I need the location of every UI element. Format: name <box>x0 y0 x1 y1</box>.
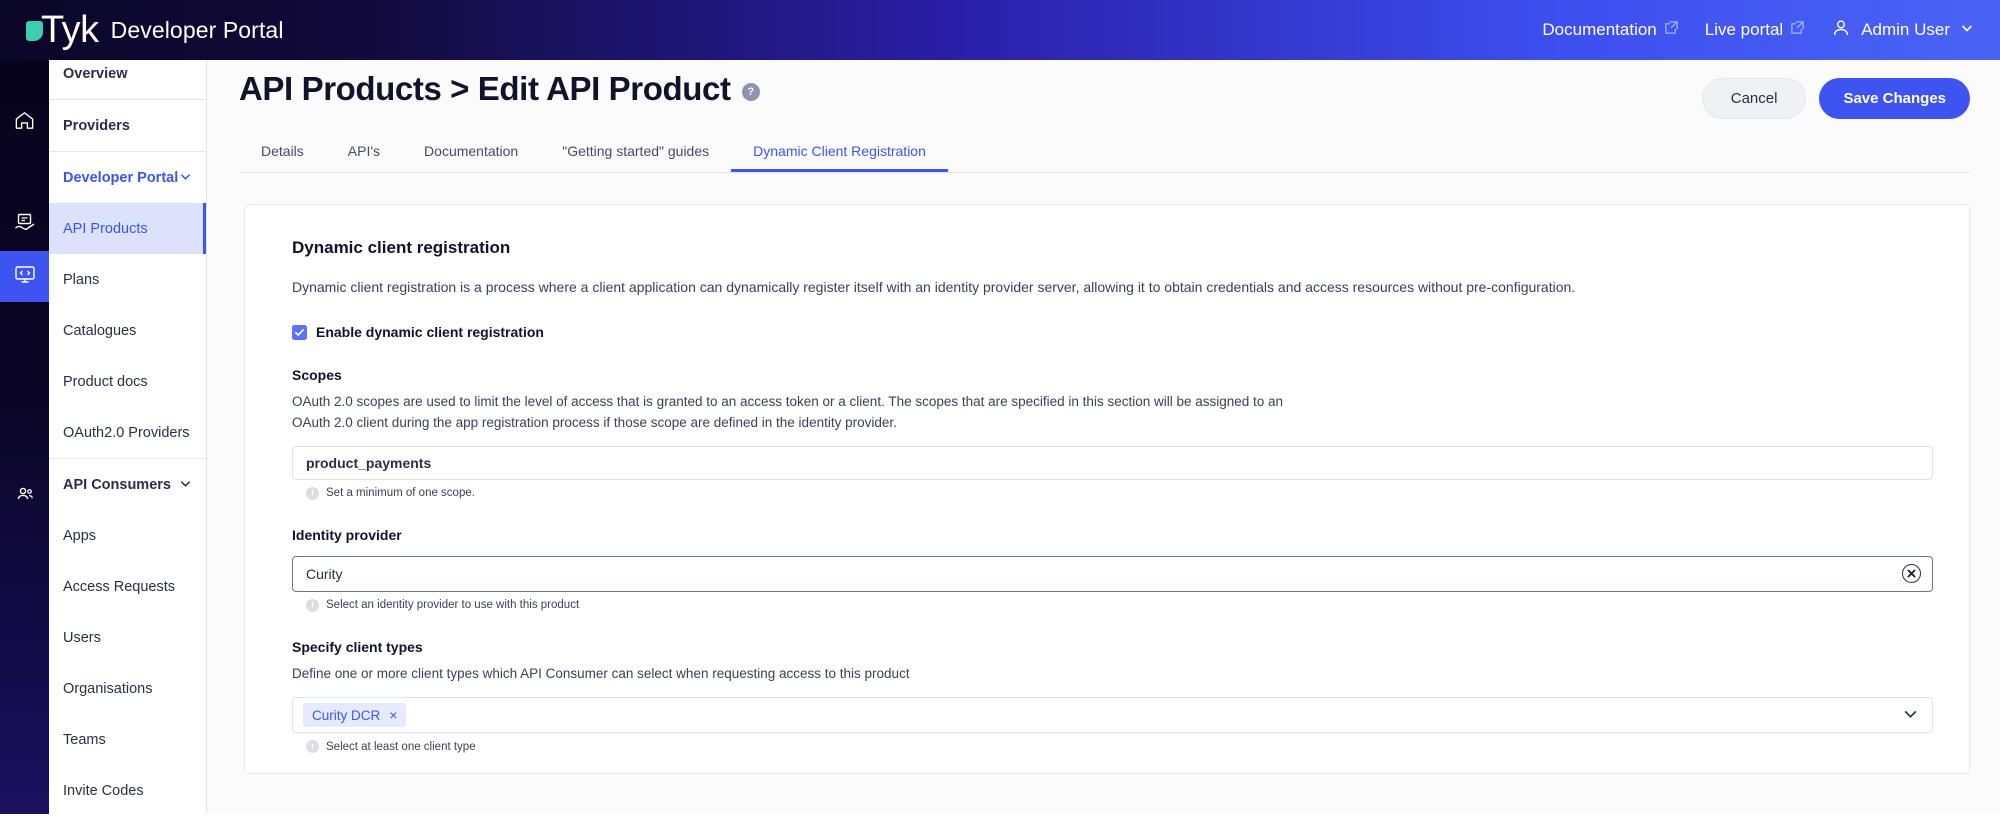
rail-item-providers[interactable] <box>0 200 49 251</box>
chevron-down-icon[interactable] <box>179 170 192 186</box>
sidebar-item-label: API Products <box>63 221 148 237</box>
top-bar: Tyk Developer Portal Documentation Live … <box>0 0 2000 60</box>
info-icon: ! <box>306 487 319 500</box>
save-changes-button[interactable]: Save Changes <box>1819 78 1970 119</box>
section-description: Dynamic client registration is a process… <box>292 277 1931 297</box>
documentation-label: Documentation <box>1542 20 1656 40</box>
sidebar-item-teams[interactable]: Teams <box>49 714 206 765</box>
sidebar-item-api-products[interactable]: API Products <box>49 203 206 254</box>
info-icon: ! <box>306 740 319 753</box>
chevron-down-icon[interactable] <box>1902 705 1919 725</box>
client-type-chip[interactable]: Curity DCR × <box>303 703 406 727</box>
scopes-input[interactable]: product_payments <box>292 446 1933 480</box>
sidebar-item-providers[interactable]: Providers <box>49 100 206 151</box>
tab-getting-started-guides[interactable]: "Getting started" guides <box>540 135 731 172</box>
sidebar-item-label: Access Requests <box>63 579 175 595</box>
sidebar-item-label: Teams <box>63 732 106 748</box>
client-types-hint: ! Select at least one client type <box>292 740 1931 753</box>
scopes-input-value: product_payments <box>306 455 431 471</box>
documentation-link[interactable]: Documentation <box>1542 20 1678 40</box>
enable-dcr-checkbox[interactable] <box>292 325 307 340</box>
info-icon: ! <box>306 599 319 612</box>
icon-rail <box>0 48 49 814</box>
client-types-select[interactable]: Curity DCR × <box>292 697 1933 733</box>
sidebar-item-plans[interactable]: Plans <box>49 254 206 305</box>
tab-documentation[interactable]: Documentation <box>402 135 540 172</box>
sidebar-item-label: Developer Portal <box>63 170 178 186</box>
scopes-description: OAuth 2.0 scopes are used to limit the l… <box>292 392 1292 433</box>
sidebar-item-oauth2-providers[interactable]: OAuth2.0 Providers <box>49 407 206 458</box>
top-bar-actions: Documentation Live portal Admin User <box>1542 18 1974 43</box>
sidebar-item-label: Users <box>63 630 101 646</box>
sidebar-item-label: Apps <box>63 528 96 544</box>
sidebar-item-label: OAuth2.0 Providers <box>63 425 190 441</box>
sidebar-item-organisations[interactable]: Organisations <box>49 663 206 714</box>
scopes-label: Scopes <box>292 367 1931 383</box>
tab-details[interactable]: Details <box>239 135 326 172</box>
tyk-logo-word: Tyk <box>41 11 99 49</box>
rail-item-developer-portal[interactable] <box>0 251 49 302</box>
cancel-button[interactable]: Cancel <box>1702 78 1807 119</box>
enable-dcr-row[interactable]: Enable dynamic client registration <box>292 324 1931 340</box>
external-link-icon <box>1790 20 1805 40</box>
developer-portal-icon <box>13 262 37 291</box>
enable-dcr-label: Enable dynamic client registration <box>316 324 544 340</box>
user-menu[interactable]: Admin User <box>1831 18 1974 43</box>
sidebar-item-api-consumers[interactable]: API Consumers <box>49 459 206 510</box>
live-portal-link[interactable]: Live portal <box>1705 20 1805 40</box>
section-title: Dynamic client registration <box>292 238 1931 258</box>
clear-circle-icon[interactable] <box>1902 564 1921 583</box>
main-content: API Products > Edit API Product ? Cancel… <box>207 48 2000 814</box>
sidebar-item-users[interactable]: Users <box>49 612 206 663</box>
home-icon <box>13 109 36 137</box>
tyk-logo: Tyk <box>26 11 99 49</box>
help-icon[interactable]: ? <box>742 83 760 101</box>
identity-provider-hint: ! Select an identity provider to use wit… <box>292 599 1931 612</box>
user-avatar-icon <box>1831 18 1851 43</box>
dynamic-client-registration-card: Dynamic client registration Dynamic clie… <box>244 204 1970 774</box>
sidebar-item-label: Invite Codes <box>63 783 144 799</box>
rail-item-home[interactable] <box>0 97 49 148</box>
brand[interactable]: Tyk Developer Portal <box>26 11 284 49</box>
tab-apis[interactable]: API's <box>326 135 402 172</box>
sidebar-item-label: Organisations <box>63 681 152 697</box>
scopes-hint-text: Set a minimum of one scope. <box>326 487 475 499</box>
scopes-hint: ! Set a minimum of one scope. <box>292 487 1931 500</box>
api-consumers-icon <box>13 483 37 512</box>
identity-provider-value: Curity <box>306 566 343 582</box>
rail-item-api-consumers[interactable] <box>0 472 49 523</box>
identity-provider-input[interactable]: Curity <box>292 556 1933 592</box>
sidebar-item-invite-codes[interactable]: Invite Codes <box>49 765 206 816</box>
sidebar-item-developer-portal[interactable]: Developer Portal <box>49 152 206 203</box>
remove-chip-icon[interactable]: × <box>389 707 397 723</box>
sidebar-item-label: Overview <box>63 66 128 82</box>
sidebar-item-access-requests[interactable]: Access Requests <box>49 561 206 612</box>
sidebar-item-label: Providers <box>63 118 130 134</box>
sidebar-item-apps[interactable]: Apps <box>49 510 206 561</box>
providers-icon <box>13 211 37 240</box>
client-type-chip-label: Curity DCR <box>312 708 380 723</box>
sidebar-item-catalogues[interactable]: Catalogues <box>49 305 206 356</box>
brand-title: Developer Portal <box>111 17 284 44</box>
sidebar-item-label: Product docs <box>63 374 148 390</box>
client-types-label: Specify client types <box>292 639 1931 655</box>
chevron-down-icon[interactable] <box>179 477 192 493</box>
live-portal-label: Live portal <box>1705 20 1783 40</box>
user-name: Admin User <box>1861 20 1950 40</box>
identity-provider-label: Identity provider <box>292 527 1931 543</box>
chevron-down-icon <box>1960 20 1974 40</box>
external-link-icon <box>1664 20 1679 40</box>
sidebar-item-product-docs[interactable]: Product docs <box>49 356 206 407</box>
sidebar: Overview Providers Developer Portal API … <box>49 48 207 814</box>
page-title-text: API Products > Edit API Product <box>239 70 731 108</box>
client-types-description: Define one or more client types which AP… <box>292 664 1292 684</box>
sidebar-item-label: Catalogues <box>63 323 136 339</box>
page-title: API Products > Edit API Product ? <box>239 70 760 108</box>
identity-provider-hint-text: Select an identity provider to use with … <box>326 599 579 611</box>
sidebar-item-label: Plans <box>63 272 99 288</box>
client-types-hint-text: Select at least one client type <box>326 741 476 753</box>
page-header-actions: Cancel Save Changes <box>1702 78 1970 119</box>
sidebar-item-label: API Consumers <box>63 477 171 493</box>
tab-dynamic-client-registration[interactable]: Dynamic Client Registration <box>731 135 948 172</box>
tab-bar: Details API's Documentation "Getting sta… <box>239 135 1970 173</box>
